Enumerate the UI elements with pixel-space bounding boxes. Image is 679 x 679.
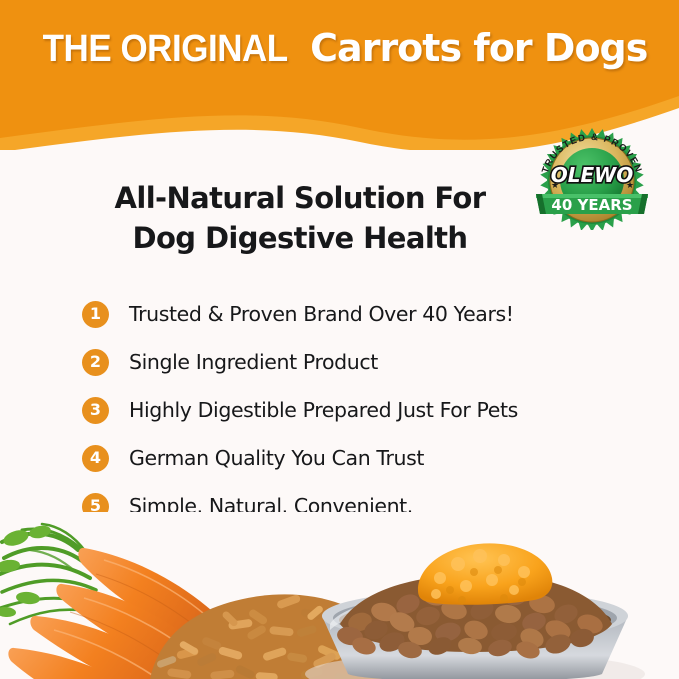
feature-number-badge-3: 3 [82,397,109,424]
feature-item-1: 1 Trusted & Proven Brand Over 40 Years! [82,290,652,338]
feature-item-3: 3 Highly Digestible Prepared Just For Pe… [82,386,652,434]
feature-label-2: Single Ingredient Product [129,350,378,374]
trust-seal-badge: TRUSTED & PROVEN ★ ★ OLEWO 40 YEARS [522,128,662,230]
subheadline-line2: Dog Digestive Health [40,218,560,258]
product-photo-illustration [0,512,679,679]
feature-label-1: Trusted & Proven Brand Over 40 Years! [129,302,514,326]
title-product-text: Carrots for Dogs [298,26,647,70]
feature-label-4: German Quality You Can Trust [129,446,424,470]
title-original-text: THE ORIGINAL [42,28,287,71]
feature-list: 1 Trusted & Proven Brand Over 40 Years! … [82,290,652,530]
seal-brand-text: OLEWO [551,163,633,187]
seal-ribbon: 40 YEARS [536,194,648,214]
subheadline-line1: All-Natural Solution For [115,181,486,215]
feature-number-badge-2: 2 [82,349,109,376]
page-title: THE ORIGINAL Carrots for Dogs [0,26,679,71]
feature-item-2: 2 Single Ingredient Product [82,338,652,386]
feature-label-3: Highly Digestible Prepared Just For Pets [129,398,518,422]
product-photo-strip [0,512,679,679]
feature-number-badge-4: 4 [82,445,109,472]
feature-number-badge-1: 1 [82,301,109,328]
feature-item-4: 4 German Quality You Can Trust [82,434,652,482]
product-infographic: THE ORIGINAL Carrots for Dogs [0,0,679,679]
subheadline: All-Natural Solution For Dog Digestive H… [40,178,560,258]
seal-ribbon-text: 40 YEARS [551,196,632,214]
